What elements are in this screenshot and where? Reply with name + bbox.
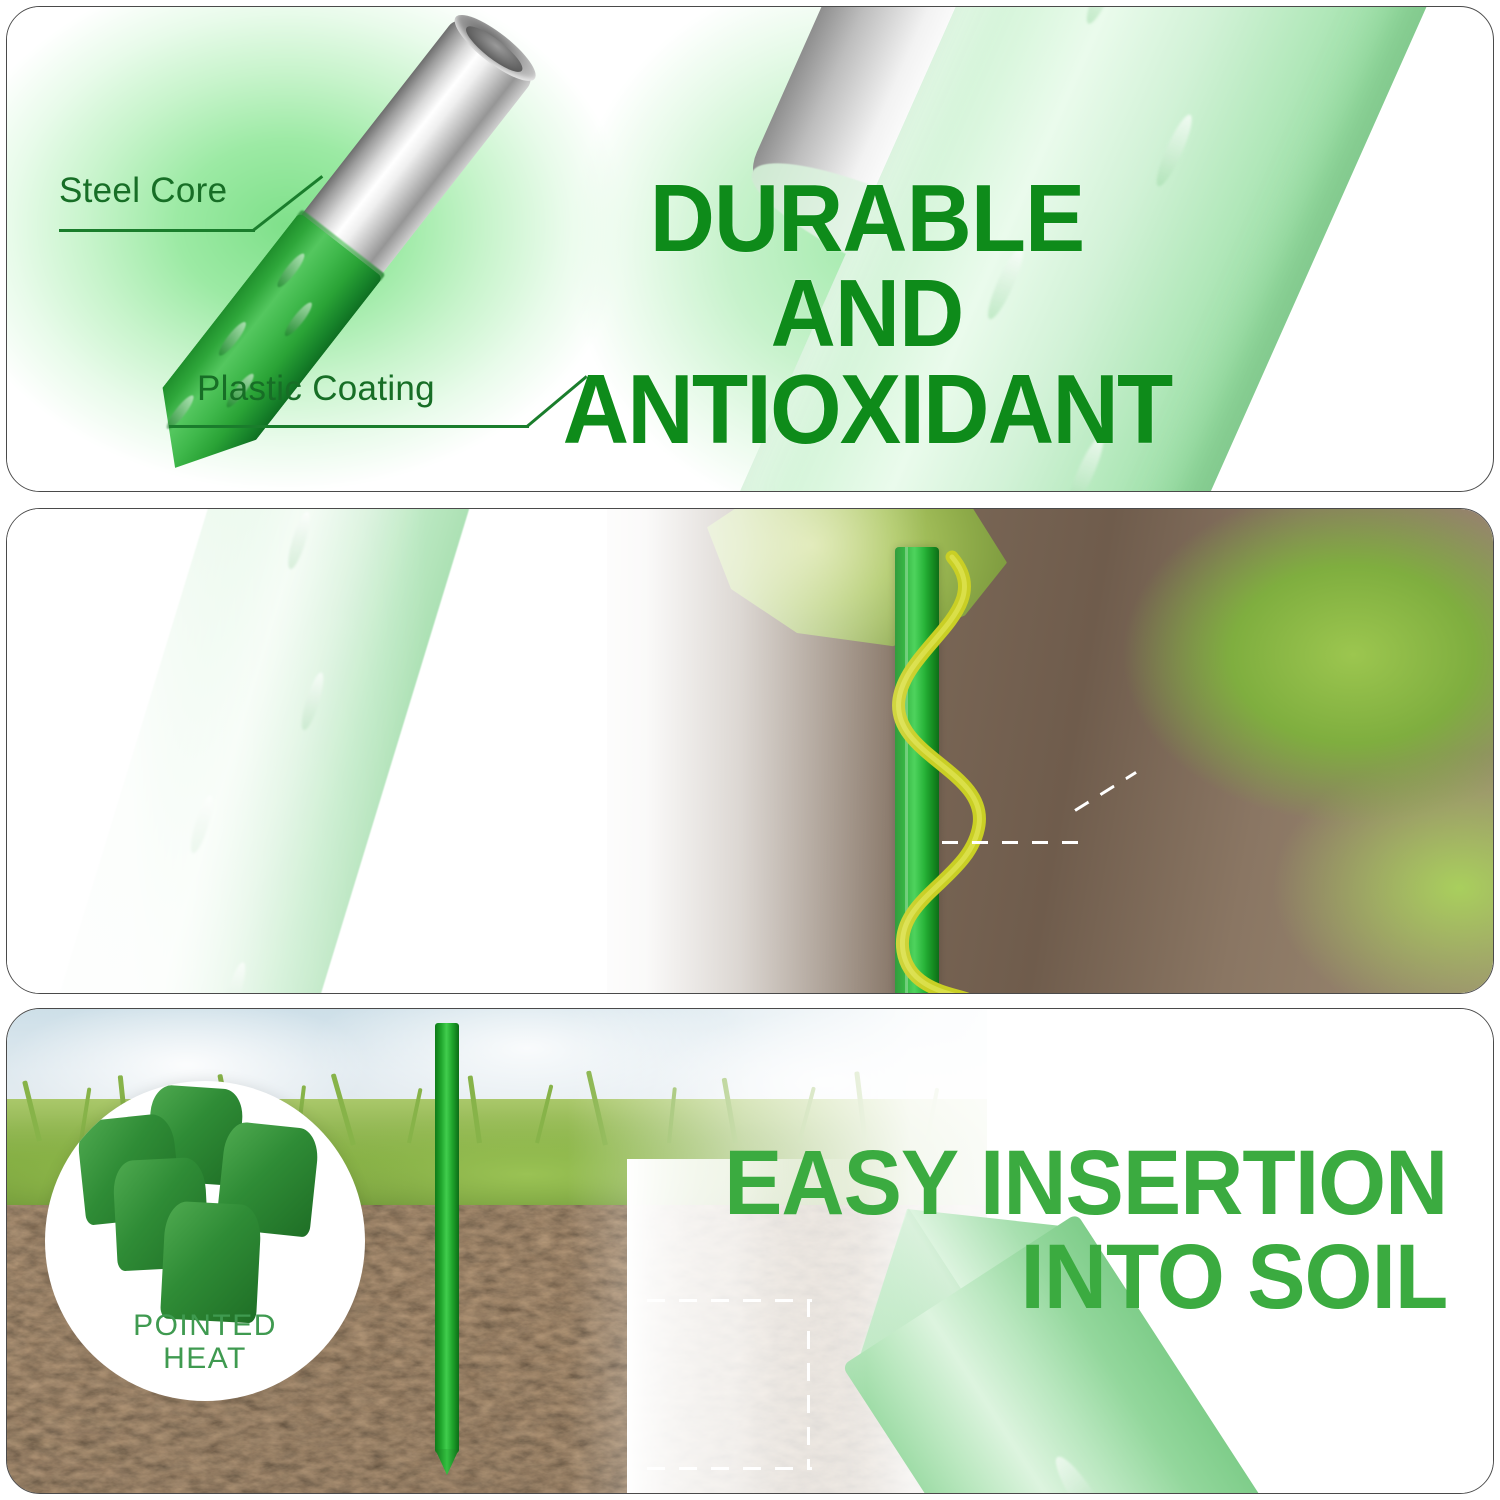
callout-dashed-connector xyxy=(942,841,1092,844)
infographic-sheet: Steel Core Plastic Coating DURABLE AND A… xyxy=(0,0,1500,1500)
photo-left-white-fade xyxy=(567,509,927,994)
green-stake-in-soil xyxy=(435,1023,459,1453)
callout-steel-core: Steel Core xyxy=(59,171,227,211)
callout-steel-core-label: Steel Core xyxy=(59,171,227,211)
headline-line-2: INTO SOIL xyxy=(724,1231,1447,1325)
headline-line-2: AND xyxy=(435,266,1300,361)
panel-soil-headline: EASY INSERTION INTO SOIL xyxy=(724,1137,1447,1325)
circle-callout-label: POINTED HEAT xyxy=(45,1310,365,1375)
circle-callout-line-1: POINTED xyxy=(45,1310,365,1342)
callout-steel-core-leader-horizontal xyxy=(59,229,255,232)
callout-plastic-coating-label: Plastic Coating xyxy=(197,369,435,409)
panel-easy-insertion-soil: POINTED HEAT EASY INSERTION INTO SOIL xyxy=(6,1008,1494,1494)
callout-plastic-coating: Plastic Coating xyxy=(197,369,435,409)
panel-durable-antioxidant: Steel Core Plastic Coating DURABLE AND A… xyxy=(6,6,1494,492)
headline-line-3: ANTIOXIDANT xyxy=(435,361,1300,458)
panel-climbers-grip: RIDGED SURFACE GREAT FOR CLIMBERS TO GRI… xyxy=(6,508,1494,994)
panel-durable-headline: DURABLE AND ANTIOXIDANT xyxy=(435,171,1300,458)
circle-callout-pointed-head: POINTED HEAT xyxy=(45,1081,365,1401)
circle-callout-line-2: HEAT xyxy=(45,1343,365,1375)
headline-line-1: EASY INSERTION xyxy=(724,1137,1447,1231)
headline-line-1: DURABLE xyxy=(435,171,1300,266)
left-white-fade xyxy=(7,509,427,994)
